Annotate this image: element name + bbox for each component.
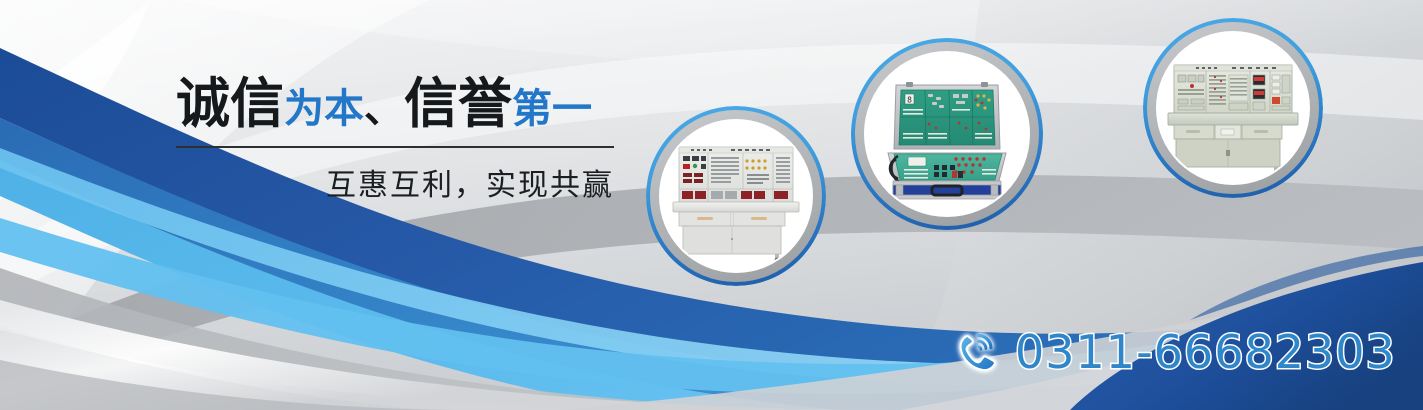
workbench-illustration-1 <box>661 121 811 271</box>
slogan-part-1: 诚信 <box>176 72 284 135</box>
phone-number[interactable]: 0311-66682303 <box>1015 325 1396 379</box>
product-image-1 <box>661 121 811 271</box>
slogan-part-2: 为本 <box>284 86 364 132</box>
product-image-3 <box>1158 33 1308 183</box>
slogan-divider <box>176 146 614 148</box>
slogan-subtitle: 互惠互利，实现共赢 <box>176 160 614 204</box>
phone-call-icon[interactable] <box>955 329 1001 375</box>
slogan-block: 诚信为本、信誉第一 <box>176 76 626 133</box>
slogan-part-4: 第一 <box>512 86 592 132</box>
product-circle-3 <box>1143 18 1323 198</box>
contact-block[interactable]: 0311-66682303 <box>955 325 1396 379</box>
product-circle-2: 8 <box>851 38 1043 230</box>
product-circle-1 <box>646 106 826 286</box>
main-slogan: 诚信为本、信誉第一 <box>176 76 626 133</box>
promo-banner: 诚信为本、信誉第一 互惠互利，实现共赢 <box>0 0 1423 410</box>
svg-text:8: 8 <box>907 96 912 105</box>
trainer-case-illustration: 8 <box>866 53 1028 215</box>
slogan-separator: 、 <box>364 86 404 132</box>
product-image-2: 8 <box>866 53 1028 215</box>
workbench-illustration-3 <box>1158 33 1308 183</box>
slogan-part-3: 信誉 <box>404 72 512 135</box>
